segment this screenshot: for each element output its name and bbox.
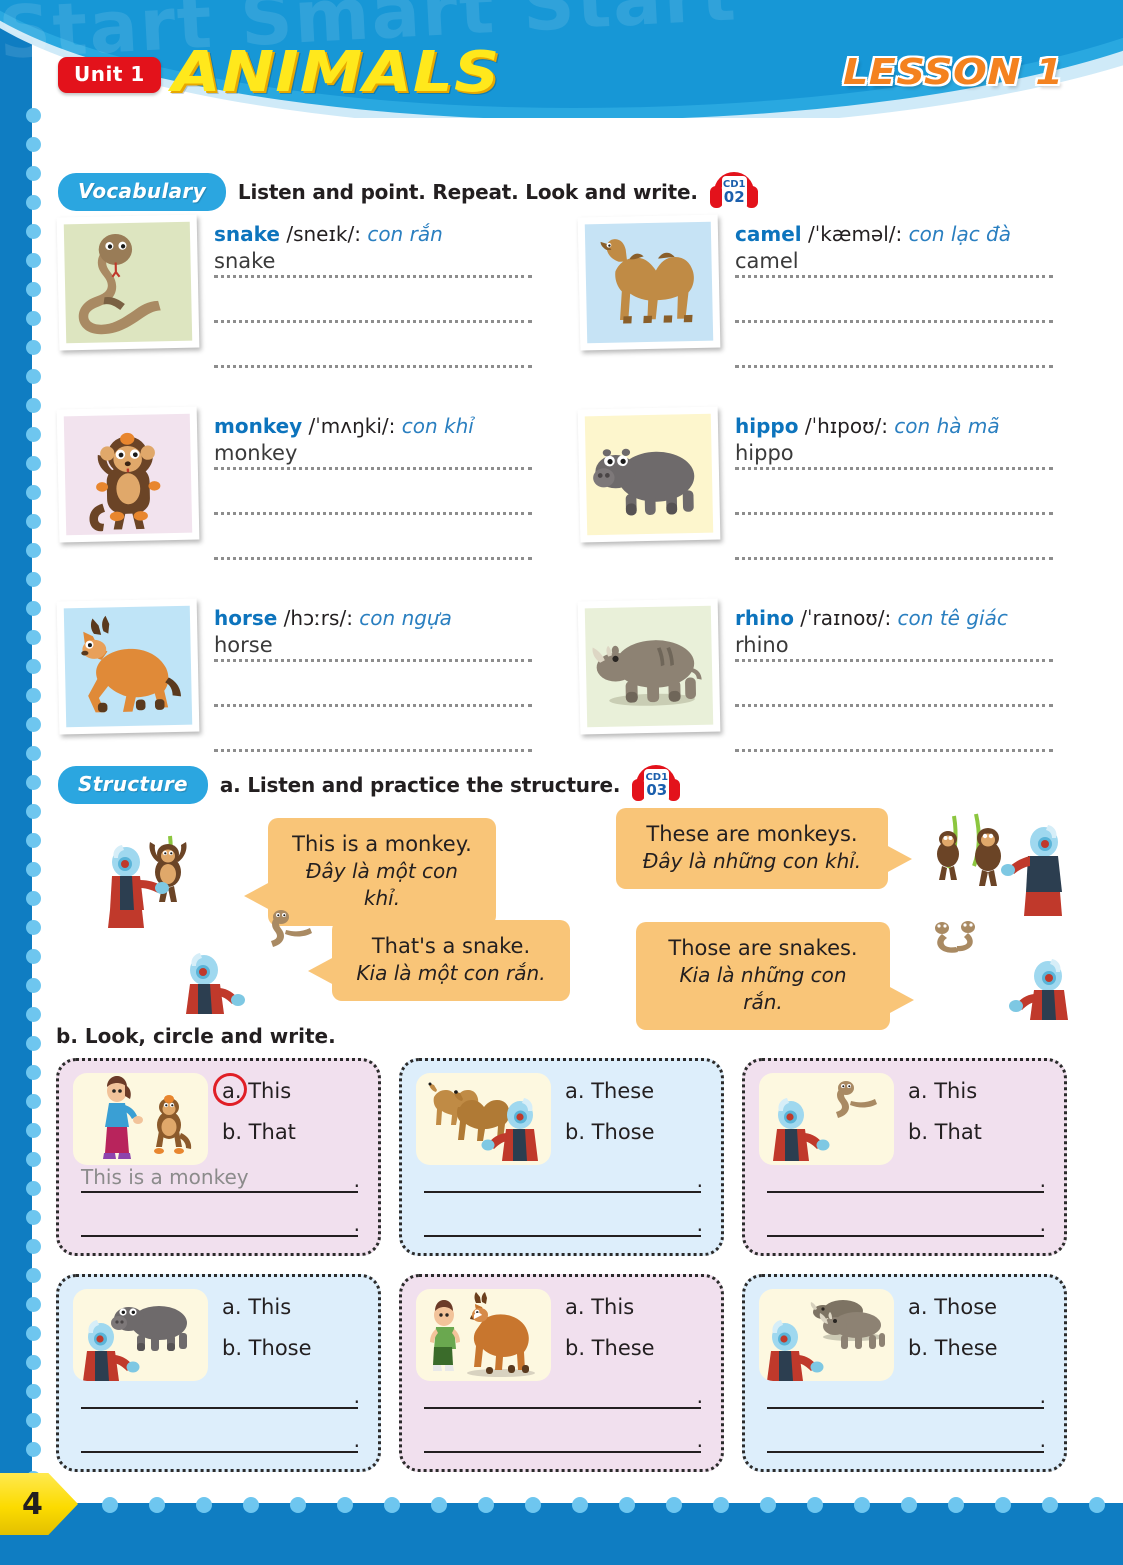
end-mark: . <box>697 1212 703 1236</box>
vocab-word-line: horse /hɔːrs/: con ngựa <box>214 606 557 631</box>
vocab-entry: snake /sneɪk/: con rắn snake <box>214 216 557 386</box>
answer-line[interactable]: . <box>767 1201 1044 1237</box>
option-a[interactable]: a. This <box>908 1079 977 1103</box>
headphone-icon[interactable]: CD1 02 <box>710 172 758 212</box>
option-a[interactable]: a. This <box>565 1295 634 1319</box>
option-b-label: b. Those <box>565 1120 655 1144</box>
speech-bubble: These are monkeys. Đây là những con khỉ. <box>616 808 888 889</box>
card-answer-lines: . . <box>767 1373 1044 1453</box>
snakes-prop <box>928 918 988 958</box>
vocabulary-section-header: Vocabulary Listen and point. Repeat. Loo… <box>58 172 758 212</box>
exercise-card[interactable]: a. Those b. These . . <box>742 1274 1067 1472</box>
unit-badge: Unit 1 <box>58 57 161 93</box>
end-mark: . <box>1040 1212 1046 1236</box>
option-a-label: a. This <box>222 1295 291 1319</box>
vocab-word: horse <box>214 606 277 630</box>
bubble-text-en: That's a snake. <box>354 932 548 960</box>
writing-line[interactable] <box>735 557 1053 560</box>
boy-pointing-figure <box>158 950 263 1030</box>
writing-line[interactable] <box>214 749 532 752</box>
vocab-photo <box>57 215 200 351</box>
speech-bubble: That's a snake. Kia là một con rắn. <box>332 920 570 1001</box>
bubble-tail-icon <box>886 845 912 873</box>
vocabulary-grid: snake /sneɪk/: con rắn snake camel /ˈkæm <box>58 216 1078 792</box>
writing-line[interactable] <box>214 557 532 560</box>
vocab-written-word: monkey <box>214 441 557 467</box>
option-b-label: b. These <box>908 1336 998 1360</box>
vocabulary-item: rhino /ˈraɪnoʊ/: con tê giác rhino <box>579 600 1078 770</box>
option-a-label: a. Those <box>908 1295 997 1319</box>
vocabulary-item: snake /sneɪk/: con rắn snake <box>58 216 557 386</box>
option-b-label: b. That <box>908 1120 982 1144</box>
vocabulary-row: monkey /ˈmʌŋki/: con khỉ monkey hippo /ˈ <box>58 408 1078 578</box>
vocab-photo <box>57 407 200 543</box>
vocab-word-line: rhino /ˈraɪnoʊ/: con tê giác <box>735 606 1078 631</box>
vocab-word-line: camel /ˈkæməl/: con lạc đà <box>735 222 1078 247</box>
bubble-tail-icon <box>308 957 334 985</box>
bubble-text-en: This is a monkey. <box>290 830 474 858</box>
answer-line[interactable]: . <box>767 1417 1044 1453</box>
card-top: a. This b. That <box>73 1073 364 1165</box>
lesson-label: LESSON 1 <box>843 52 1063 93</box>
footer-dot-strip <box>55 1497 1123 1513</box>
writing-line[interactable] <box>735 275 1053 278</box>
vocabulary-item: monkey /ˈmʌŋki/: con khỉ monkey <box>58 408 557 578</box>
answer-line[interactable]: . <box>424 1417 701 1453</box>
option-a-label: a. This <box>565 1295 634 1319</box>
vocab-written-word: rhino <box>735 633 1078 659</box>
exercise-card[interactable]: a. These b. Those . . <box>399 1058 724 1256</box>
card-options: a. This b. Those <box>222 1289 312 1381</box>
vocab-entry: horse /hɔːrs/: con ngựa horse <box>214 600 557 770</box>
vocab-word: camel <box>735 222 802 246</box>
writing-line[interactable] <box>214 275 532 278</box>
vocab-photo <box>57 599 200 735</box>
end-mark: . <box>1040 1428 1046 1452</box>
answer-line[interactable]: . <box>424 1201 701 1237</box>
rhino-icon <box>585 606 713 728</box>
end-mark: . <box>697 1384 703 1408</box>
answer-line[interactable]: . <box>81 1201 358 1237</box>
writing-line[interactable] <box>214 365 532 368</box>
rhinos-boy-icon <box>759 1289 894 1381</box>
vocab-ipa: /hɔːrs/: <box>284 606 353 630</box>
writing-line[interactable] <box>735 659 1053 662</box>
structure-badge: Structure <box>58 766 208 804</box>
vocab-translation: con lạc đà <box>909 222 1011 246</box>
vocabulary-row: snake /sneɪk/: con rắn snake camel /ˈkæm <box>58 216 1078 386</box>
vocab-entry: rhino /ˈraɪnoʊ/: con tê giác rhino <box>735 600 1078 770</box>
writing-line[interactable] <box>214 467 532 470</box>
exercise-b-cards: a. This b. That This is a monkey . . <box>56 1058 1068 1472</box>
bubble-text-en: These are monkeys. <box>638 820 866 848</box>
vocab-ipa: /ˈraɪnoʊ/: <box>800 606 891 630</box>
vocab-ipa: /ˈkæməl/: <box>808 222 902 246</box>
vocab-word: rhino <box>735 606 794 630</box>
exercise-b-heading: b. Look, circle and write. <box>56 1024 336 1048</box>
option-a-label: a. These <box>565 1079 654 1103</box>
option-b[interactable]: b. These <box>565 1336 655 1360</box>
vocab-written-word: horse <box>214 633 557 659</box>
vocab-entry: monkey /ˈmʌŋki/: con khỉ monkey <box>214 408 557 578</box>
writing-line[interactable] <box>735 704 1053 707</box>
vocab-ipa: /ˈhɪpoʊ/: <box>805 414 888 438</box>
bubble-tail-icon <box>888 986 914 1014</box>
vocabulary-badge: Vocabulary <box>58 173 226 211</box>
option-a[interactable]: a. Those <box>908 1295 997 1319</box>
end-mark: . <box>697 1428 703 1452</box>
camel-icon <box>585 222 713 344</box>
vocab-translation: con khỉ <box>402 414 474 438</box>
vocabulary-item: hippo /ˈhɪpoʊ/: con hà mã hippo <box>579 408 1078 578</box>
card-answer-lines: . . <box>424 1157 701 1237</box>
vocab-written-word: hippo <box>735 441 1078 467</box>
structure-section-header: Structure a. Listen and practice the str… <box>58 765 680 805</box>
vocab-word-line: monkey /ˈmʌŋki/: con khỉ <box>214 414 557 439</box>
vocab-translation: con rắn <box>367 222 442 246</box>
writing-line[interactable] <box>214 320 532 323</box>
option-a[interactable]: a. This <box>222 1295 291 1319</box>
bubble-text-vi: Đây là một con khỉ. <box>290 858 474 912</box>
speech-bubble: Those are snakes. Kia là những con rắn. <box>636 922 890 1030</box>
structure-dialogue-area: This is a monkey. Đây là một con khỉ. Th… <box>58 800 1078 1020</box>
option-b[interactable]: b. Those <box>222 1336 312 1360</box>
card-top: a. These b. Those <box>416 1073 707 1165</box>
card-options: a. This b. These <box>565 1289 655 1381</box>
card-top: a. This b. Those <box>73 1289 364 1381</box>
card-options: a. This b. That <box>908 1073 982 1165</box>
option-b[interactable]: b. These <box>908 1336 998 1360</box>
vocab-translation: con hà mã <box>894 414 999 438</box>
option-b-label: b. These <box>565 1336 655 1360</box>
option-a[interactable]: a. This <box>222 1079 291 1103</box>
hippo-icon <box>585 414 713 536</box>
end-mark: . <box>1040 1168 1046 1192</box>
writing-line[interactable] <box>214 704 532 707</box>
card-top: a. This b. That <box>759 1073 1050 1165</box>
vocab-translation: con ngựa <box>359 606 452 630</box>
option-a[interactable]: a. These <box>565 1079 654 1103</box>
option-b-label: b. That <box>222 1120 296 1144</box>
card-options: a. These b. Those <box>565 1073 655 1165</box>
boy-with-monkeys-figure <box>926 812 1076 922</box>
monkey-icon <box>64 414 192 536</box>
vocabulary-row: horse /hɔːrs/: con ngựa horse rhino /ˈra <box>58 600 1078 770</box>
answer-text: This is a monkey <box>81 1165 249 1189</box>
vocab-word-line: hippo /ˈhɪpoʊ/: con hà mã <box>735 414 1078 439</box>
page-title: ANIMALS <box>172 40 500 105</box>
page-header: Start Smart Start Smart Start Start Smar… <box>0 0 1123 118</box>
vocabulary-item: camel /ˈkæməl/: con lạc đà camel <box>579 216 1078 386</box>
vocab-word: monkey <box>214 414 302 438</box>
headphone-icon[interactable]: CD1 03 <box>632 765 680 805</box>
option-b[interactable]: b. That <box>222 1120 296 1144</box>
card-answer-lines: . . <box>81 1373 358 1453</box>
vocab-photo <box>578 215 721 351</box>
structure-instruction: a. Listen and practice the structure. <box>220 773 620 797</box>
answer-line[interactable]: . <box>424 1373 701 1409</box>
bubble-text-vi: Kia là những con rắn. <box>658 962 868 1016</box>
writing-line[interactable] <box>735 512 1053 515</box>
vocab-word-line: snake /sneɪk/: con rắn <box>214 222 557 247</box>
vocab-word: snake <box>214 222 280 246</box>
snake-prop <box>264 908 314 950</box>
exercise-card[interactable]: a. This b. That This is a monkey . . <box>56 1058 381 1256</box>
boy-horse-icon <box>416 1289 551 1381</box>
answer-line[interactable]: . <box>81 1373 358 1409</box>
writing-line[interactable] <box>735 365 1053 368</box>
hippo-boy-icon <box>73 1289 208 1381</box>
vocab-entry: hippo /ˈhɪpoʊ/: con hà mã hippo <box>735 408 1078 578</box>
writing-line[interactable] <box>735 749 1053 752</box>
writing-line[interactable] <box>735 467 1053 470</box>
left-dot-strip <box>26 108 42 1498</box>
vocab-ipa: /ˈmʌŋki/: <box>309 414 396 438</box>
end-mark: . <box>354 1168 360 1192</box>
vocab-written-word: camel <box>735 249 1078 275</box>
vocab-written-word: snake <box>214 249 557 275</box>
option-b[interactable]: b. That <box>908 1120 982 1144</box>
end-mark: . <box>354 1428 360 1452</box>
vocab-word: hippo <box>735 414 798 438</box>
answer-line[interactable]: . <box>767 1373 1044 1409</box>
red-circle-icon <box>210 1070 250 1109</box>
writing-line[interactable] <box>214 659 532 662</box>
vocab-entry: camel /ˈkæməl/: con lạc đà camel <box>735 216 1078 386</box>
vocab-photo <box>578 407 721 543</box>
vocab-translation: con tê giác <box>898 606 1008 630</box>
exercise-card[interactable]: a. This b. That . . <box>742 1058 1067 1256</box>
writing-line[interactable] <box>214 512 532 515</box>
option-a-label: a. This <box>908 1079 977 1103</box>
card-answer-lines: . . <box>767 1157 1044 1237</box>
option-b[interactable]: b. Those <box>565 1120 655 1144</box>
girl-monkey-icon <box>73 1073 208 1165</box>
snake-icon <box>64 222 192 344</box>
bubble-text-vi: Đây là những con khỉ. <box>638 848 866 875</box>
bubble-text-vi: Kia là một con rắn. <box>354 960 548 987</box>
answer-line[interactable]: . <box>767 1157 1044 1193</box>
end-mark: . <box>354 1212 360 1236</box>
boy-with-monkey-figure <box>100 828 210 928</box>
horse-icon <box>64 606 192 728</box>
card-options: a. Those b. These <box>908 1289 998 1381</box>
track-number: 03 <box>646 783 667 798</box>
end-mark: . <box>354 1384 360 1408</box>
card-top: a. This b. These <box>416 1289 707 1381</box>
bubble-text-en: Those are snakes. <box>658 934 868 962</box>
end-mark: . <box>1040 1384 1046 1408</box>
vocabulary-instruction: Listen and point. Repeat. Look and write… <box>238 180 698 204</box>
vocab-photo <box>578 599 721 735</box>
answer-line[interactable]: . <box>424 1157 701 1193</box>
card-answer-lines: This is a monkey . . <box>81 1157 358 1237</box>
page-number: 4 <box>22 1487 43 1522</box>
card-top: a. Those b. These <box>759 1289 1050 1381</box>
answer-line[interactable]: . <box>81 1417 358 1453</box>
card-answer-lines: . . <box>424 1373 701 1453</box>
card-options: a. This b. That <box>222 1073 296 1165</box>
vocabulary-item: horse /hɔːrs/: con ngựa horse <box>58 600 557 770</box>
track-number: 02 <box>724 190 745 205</box>
boy-pointing-figure <box>996 956 1086 1030</box>
option-b-label: b. Those <box>222 1336 312 1360</box>
end-mark: . <box>697 1168 703 1192</box>
answer-line[interactable]: This is a monkey . <box>81 1157 358 1193</box>
camels-icon <box>416 1073 551 1165</box>
snake-boy-icon <box>759 1073 894 1165</box>
exercise-card[interactable]: a. This b. Those . . <box>56 1274 381 1472</box>
bubble-tail-icon <box>244 882 270 910</box>
exercise-card[interactable]: a. This b. These . . <box>399 1274 724 1472</box>
writing-line[interactable] <box>735 320 1053 323</box>
vocab-ipa: /sneɪk/: <box>286 222 361 246</box>
